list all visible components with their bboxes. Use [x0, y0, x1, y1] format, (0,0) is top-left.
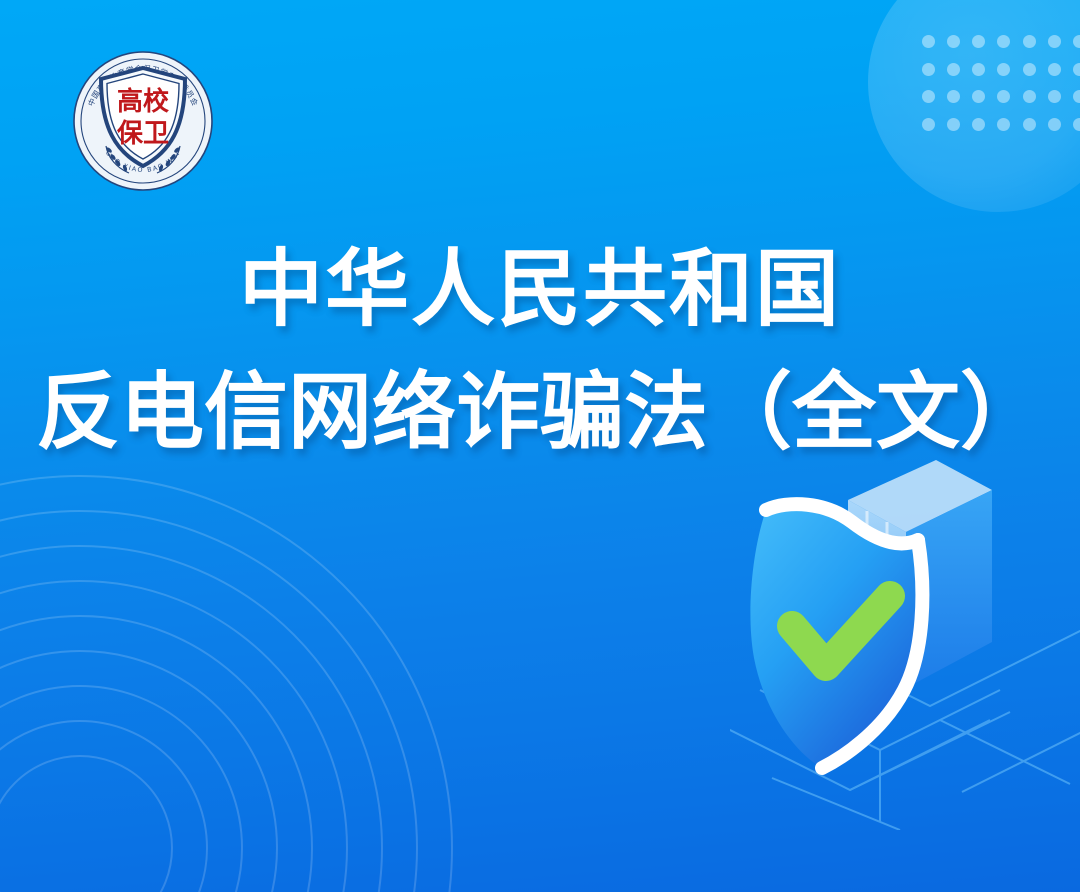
grid-dot — [922, 35, 935, 48]
security-illustration — [730, 390, 1080, 830]
grid-dot — [947, 63, 960, 76]
ring — [0, 650, 278, 892]
emblem-shield-text-top: 高校 — [117, 86, 170, 117]
grid-dot — [947, 118, 960, 131]
grid-dot — [922, 90, 935, 103]
ring — [0, 615, 313, 892]
grid-dot — [1048, 118, 1061, 131]
grid-dot — [1073, 35, 1080, 48]
ring — [0, 755, 173, 892]
grid-dot — [972, 35, 985, 48]
ring — [0, 720, 208, 892]
grid-dot — [997, 118, 1010, 131]
grid-dot — [1073, 63, 1080, 76]
grid-dot — [1023, 35, 1036, 48]
grid-dot — [997, 90, 1010, 103]
grid-dot — [972, 90, 985, 103]
grid-dot — [947, 35, 960, 48]
grid-dot — [922, 63, 935, 76]
grid-dot — [997, 35, 1010, 48]
bottom-left-concentric-rings — [0, 468, 460, 892]
title-line-1: 中华人民共和国 — [0, 228, 1080, 351]
ring — [0, 685, 243, 892]
grid-dot — [922, 118, 935, 131]
ring — [0, 475, 453, 892]
grid-dot — [1048, 90, 1061, 103]
security-shield — [750, 504, 922, 768]
ring — [0, 545, 383, 892]
ring — [0, 510, 418, 892]
top-right-dot-grid — [916, 28, 1080, 138]
poster-canvas: 中国高等教育学会保卫学专业委员会 GAO XIAO BAO WEI — [0, 0, 1080, 892]
grid-dot — [972, 118, 985, 131]
grid-dot — [972, 63, 985, 76]
grid-dot — [1023, 63, 1036, 76]
gao-xiao-bao-wei-logo: 中国高等教育学会保卫学专业委员会 GAO XIAO BAO WEI — [68, 46, 218, 196]
grid-dot — [1023, 118, 1036, 131]
grid-dot — [997, 63, 1010, 76]
emblem-shield-text-bottom: 保卫 — [116, 119, 169, 149]
ring — [0, 580, 348, 892]
grid-dot — [1023, 90, 1036, 103]
grid-dot — [1048, 35, 1061, 48]
top-right-glow-circle — [868, 0, 1080, 212]
grid-dot — [947, 90, 960, 103]
grid-dot — [1073, 90, 1080, 103]
grid-dot — [1073, 118, 1080, 131]
grid-dot — [1048, 63, 1061, 76]
